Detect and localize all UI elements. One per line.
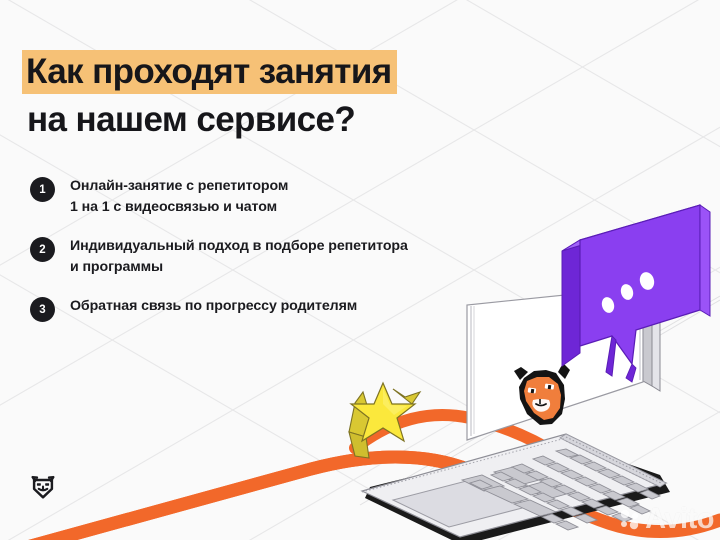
status-badge: 2 bbox=[30, 237, 55, 262]
list-item-label-line: и программы bbox=[70, 257, 408, 278]
list-item-label-line: Индивидуальный подход в подборе репетито… bbox=[70, 236, 408, 257]
list-item: 3 Обратная связь по прогрессу родителям bbox=[30, 296, 500, 322]
list-item-label: Индивидуальный подход в подборе репетито… bbox=[70, 236, 408, 277]
list-item-label-line: Онлайн-занятие с репетитором bbox=[70, 176, 288, 197]
avito-dots-icon bbox=[619, 509, 641, 531]
list-item-label-line: 1 на 1 с видеосвязью и чатом bbox=[70, 197, 288, 218]
bear-head-icon bbox=[28, 472, 58, 502]
avito-watermark: Avito bbox=[619, 505, 714, 534]
speech-bubble-3d-icon bbox=[562, 205, 710, 382]
page-title: Как проходят занятия на нашем сервисе? bbox=[26, 50, 397, 140]
list-item-label: Онлайн-занятие с репетитором 1 на 1 с ви… bbox=[70, 176, 288, 217]
bear-mascot-icon bbox=[514, 363, 570, 425]
list-item: 2 Индивидуальный подход в подборе репети… bbox=[30, 236, 500, 277]
steps-list: 1 Онлайн-занятие с репетитором 1 на 1 с … bbox=[30, 176, 500, 341]
page-title-line-2: на нашем сервисе? bbox=[26, 99, 397, 140]
page-title-line-1: Как проходят занятия bbox=[22, 50, 397, 94]
list-item-label: Обратная связь по прогрессу родителям bbox=[70, 296, 357, 317]
list-item: 1 Онлайн-занятие с репетитором 1 на 1 с … bbox=[30, 176, 500, 217]
status-badge: 1 bbox=[30, 177, 55, 202]
orange-ribbon-path-icon bbox=[0, 415, 720, 540]
status-badge: 3 bbox=[30, 297, 55, 322]
poster-canvas: Как проходят занятия на нашем сервисе? 1… bbox=[0, 0, 720, 540]
list-item-label-line: Обратная связь по прогрессу родителям bbox=[70, 296, 357, 317]
avito-watermark-text: Avito bbox=[645, 505, 714, 534]
star-3d-icon bbox=[349, 383, 420, 458]
